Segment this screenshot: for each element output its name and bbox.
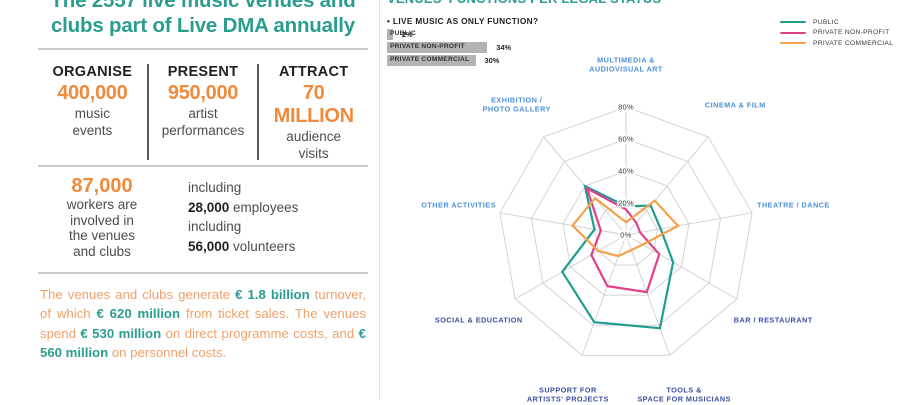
radar-tick-label: 0% bbox=[619, 231, 632, 240]
workers-number: 87,000 bbox=[38, 175, 166, 197]
radar-tick-label: 40% bbox=[617, 167, 635, 176]
finance-paragraph: The venues and clubs generate € 1.8 bill… bbox=[40, 285, 366, 362]
infographic-root: The 2557 live music venues and clubs par… bbox=[0, 0, 900, 400]
workers-detail-line: 28,000 employees bbox=[188, 198, 368, 218]
stat-sub-1: music bbox=[42, 106, 143, 122]
workers-block: 87,000 workers are involved in the venue… bbox=[38, 175, 368, 267]
radar-axis-label: TOOLS &SPACE FOR MUSICIANS bbox=[637, 385, 731, 404]
money-amount: € 530 million bbox=[80, 326, 161, 341]
stat-sub-2: events bbox=[42, 123, 143, 139]
workers-detail-number: 56,000 bbox=[188, 239, 229, 254]
radar-axis-label: THEATRE / DANCE bbox=[757, 201, 830, 210]
radar-axis-spoke bbox=[626, 137, 708, 235]
radar-tick-label: 80% bbox=[617, 103, 635, 112]
stat-head: ORGANISE bbox=[42, 64, 143, 81]
radar-axis-spoke bbox=[500, 213, 626, 235]
key-stats-row: ORGANISE 400,000 music events PRESENT 95… bbox=[38, 64, 368, 160]
stat-sub-2: visits bbox=[263, 146, 364, 162]
radar-tick-label: 20% bbox=[617, 199, 635, 208]
workers-detail-line: including bbox=[188, 217, 368, 237]
stat-head: ATTRACT bbox=[263, 64, 364, 81]
radar-axis-spoke bbox=[515, 235, 626, 299]
workers-detail-line: including bbox=[188, 178, 368, 198]
stat-head: PRESENT bbox=[153, 64, 254, 81]
radar-axis-label: SOCIAL & EDUCATION bbox=[435, 315, 523, 324]
money-amount: € 1.8 billion bbox=[235, 287, 310, 302]
workers-text-1: workers are bbox=[38, 197, 166, 213]
stat-organise: ORGANISE 400,000 music events bbox=[38, 64, 147, 160]
divider-rule-3 bbox=[38, 272, 368, 274]
radar-tick-label: 60% bbox=[617, 135, 635, 144]
radar-axis-label: CINEMA & FILM bbox=[705, 100, 766, 109]
headline: The 2557 live music venues and clubs par… bbox=[38, 0, 368, 38]
stat-sub-1: artist bbox=[153, 106, 254, 122]
stat-number: 70 MILLION bbox=[263, 82, 364, 128]
stat-sub-2: performances bbox=[153, 123, 254, 139]
radar-axis-label: MULTIMEDIA &AUDIOVISUAL ART bbox=[589, 56, 663, 75]
radar-axis-label: BAR / RESTAURANT bbox=[734, 315, 813, 324]
stat-present: PRESENT 950,000 artist performances bbox=[147, 64, 258, 160]
workers-breakdown: including 28,000 employees including 56,… bbox=[166, 175, 368, 267]
radar-axis-label: EXHIBITION /PHOTO GALLERY bbox=[483, 95, 551, 114]
radar-axis-spoke bbox=[626, 213, 752, 235]
stat-sub-1: audience bbox=[263, 129, 364, 145]
radar-chart: 0%20%40%60%80%MULTIMEDIA &AUDIOVISUAL AR… bbox=[380, 0, 900, 400]
stat-attract: ATTRACT 70 MILLION audience visits bbox=[257, 64, 368, 160]
right-panel: VENUES' FUNCTIONS PER LEGAL STATUS • LIV… bbox=[380, 0, 900, 400]
divider-rule-1 bbox=[38, 48, 368, 50]
stat-number: 400,000 bbox=[42, 82, 143, 105]
divider-rule-2 bbox=[38, 165, 368, 167]
radar-axis-label: OTHER ACTIVITIES bbox=[421, 201, 496, 210]
workers-detail-number: 28,000 bbox=[188, 200, 229, 215]
workers-summary: 87,000 workers are involved in the venue… bbox=[38, 175, 166, 267]
workers-text-4: and clubs bbox=[38, 244, 166, 260]
workers-detail-line: 56,000 volunteers bbox=[188, 237, 368, 257]
stat-number: 950,000 bbox=[153, 82, 254, 105]
workers-text-2: involved in bbox=[38, 213, 166, 229]
workers-text-3: the venues bbox=[38, 228, 166, 244]
radar-axis-label: SUPPORT FORARTISTS' PROJECTS bbox=[527, 385, 609, 404]
money-amount: € 620 million bbox=[96, 306, 180, 321]
left-panel: The 2557 live music venues and clubs par… bbox=[0, 0, 380, 400]
